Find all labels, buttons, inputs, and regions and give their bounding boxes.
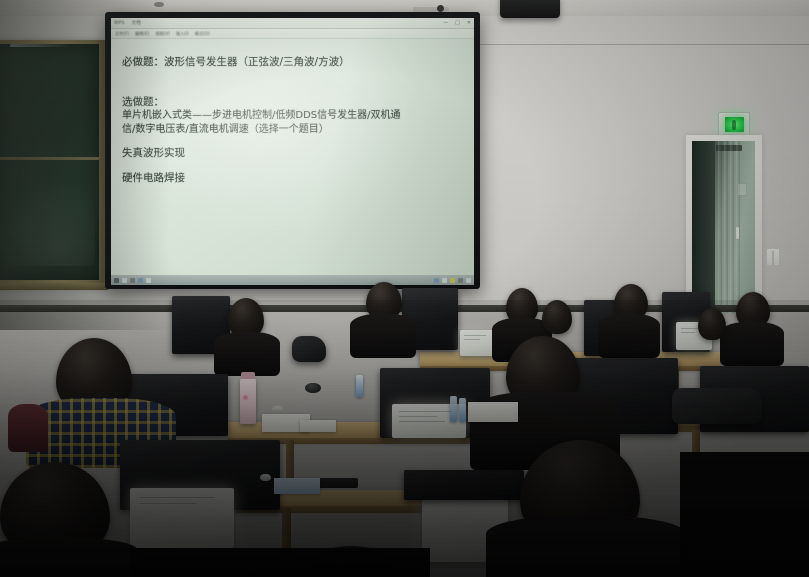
computer-mouse [260,474,271,481]
water-bottle [356,375,363,397]
student-body [214,332,280,376]
student-body [720,322,784,366]
student-body [0,538,138,577]
desktop-speaker [305,383,321,393]
thermos-cap [241,372,255,379]
student-body-foreground [486,516,686,577]
monitor-lit [130,488,234,548]
thermos-bottle [240,378,256,424]
paper-sheet [468,402,518,422]
monitor-lit [460,330,494,356]
monitor [404,470,524,500]
student-body [8,404,48,452]
student-head [542,300,572,334]
water-bottle [450,396,457,422]
student-area [0,0,809,577]
classroom-scene: WPS 文档 — □ ✕ 文件(F) 编辑(E) 视图(V) 插入(I) 格式(… [0,0,809,577]
water-bottle [459,398,466,422]
computer-mouse [272,406,283,413]
student-head [698,308,726,340]
paper-sheet [300,420,336,432]
backpack [292,336,326,362]
student-body [350,314,416,358]
foreground-shadow [680,452,809,577]
student-body [598,314,660,358]
paper-sheet-blue [274,478,320,494]
foreground-shadow [130,548,430,577]
backpack [672,388,762,424]
